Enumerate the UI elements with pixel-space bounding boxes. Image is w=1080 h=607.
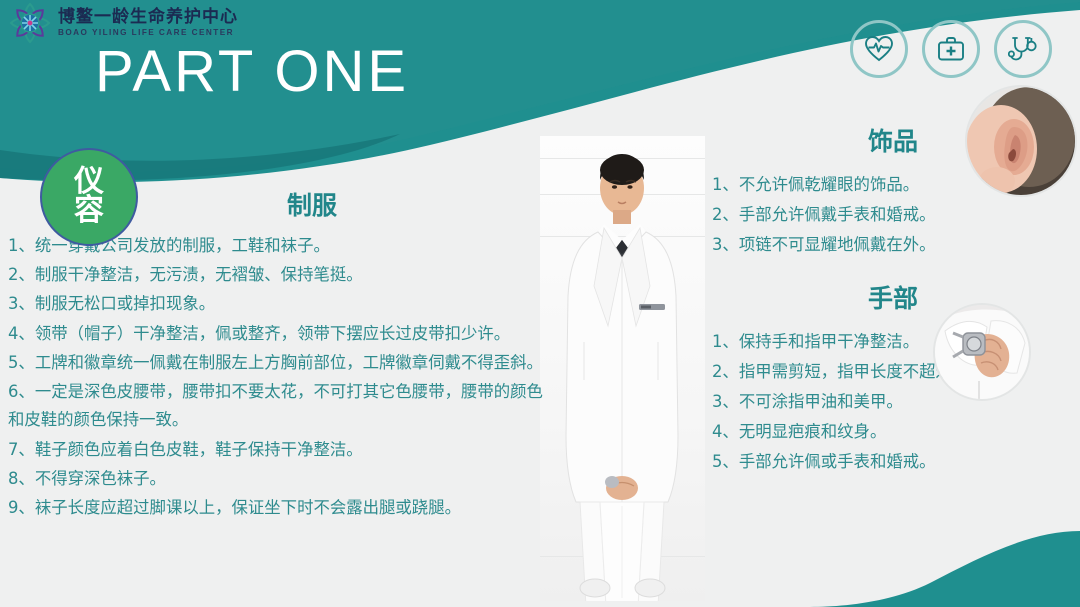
list-item: 5、工牌和徽章统一佩戴在制服左上方胸前部位，工牌徽章伺戴不得歪斜。: [8, 349, 556, 377]
list-item: 3、制服无松口或掉扣现象。: [8, 290, 556, 318]
list-item: 5、手部允许佩或手表和婚戒。: [712, 447, 1074, 476]
brand-name-en: BOAO YILING LIFE CARE CENTER: [58, 29, 238, 37]
section-gap: [712, 261, 1074, 279]
list-item: 4、无明显疤痕和纹身。: [712, 417, 1074, 446]
list-item: 3、项链不可显耀地佩戴在外。: [712, 230, 1074, 259]
heart-pulse-icon: [850, 20, 908, 78]
slide-root: 博鳌一龄生命养护中心 BOAO YILING LIFE CARE CENTER …: [0, 0, 1080, 607]
badge-char-2: 容: [74, 197, 104, 226]
list-item: 2、手部允许佩戴手表和婚戒。: [712, 200, 1074, 229]
list-item: 2、制服干净整洁，无污渍，无褶皱、保持笔挺。: [8, 261, 556, 289]
list-item: 7、鞋子颜色应着白色皮鞋，鞋子保持干净整洁。: [8, 436, 556, 464]
list-item: 6、一定是深色皮腰带，腰带扣不要太花，不可打其它色腰带，腰带的颜色和皮鞋的颜色保…: [8, 378, 556, 434]
watch-photo: [933, 303, 1031, 401]
section-badge-yirong: 仪 容: [40, 148, 138, 246]
page-title: PART ONE: [95, 38, 409, 105]
brand-name-cn: 博鳌一龄生命养护中心: [58, 9, 238, 26]
list-item: 3、不可涂指甲油和美甲。: [712, 387, 1074, 416]
ear-photo: [965, 85, 1077, 197]
stethoscope-icon: [994, 20, 1052, 78]
list-item: 9、袜子长度应超过脚课以上，保证坐下时不会露出腿或跷腿。: [8, 494, 556, 522]
uniform-rule-list: 1、统一穿戴公司发放的制服，工鞋和袜子。 2、制服干净整洁，无污渍，无褶皱、保持…: [8, 232, 556, 522]
staff-uniform-photo: [540, 136, 705, 601]
list-item: 4、领带（帽子）干净整洁，佩或整齐，领带下摆应长过皮带扣少许。: [8, 320, 556, 348]
medical-icon-row: [850, 20, 1052, 78]
first-aid-kit-icon: [922, 20, 980, 78]
bottom-wave-decoration: [780, 517, 1080, 607]
flower-mandala-logo-icon: [8, 2, 52, 44]
hands-heading: 手部: [712, 279, 1074, 315]
list-item: 8、不得穿深色袜子。: [8, 465, 556, 493]
